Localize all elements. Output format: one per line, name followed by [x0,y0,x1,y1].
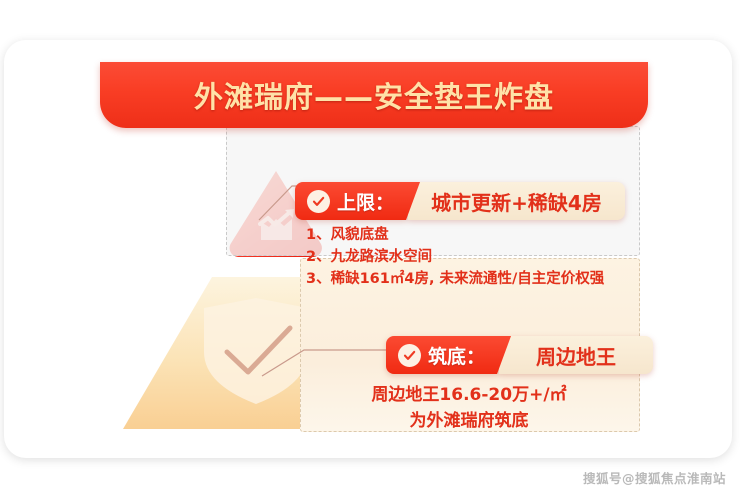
upper-badge-value: 城市更新+稀缺4房 [431,187,602,216]
info-card: 外滩瑞府——安全垫王炸盘 上限： 城市更新+稀缺4房 1、风貌底盘 2、九龙路滨… [4,40,732,458]
title-banner: 外滩瑞府——安全垫王炸盘 [100,62,648,128]
lower-badge-value: 周边地王 [536,341,616,370]
lower-badge[interactable]: 筑底： 周边地王 [386,336,653,374]
page-title: 外滩瑞府——安全垫王炸盘 [194,74,554,116]
upper-bullet-list: 1、风貌底盘 2、九龙路滨水空间 3、稀缺161㎡4房, 未来流通性/自主定价权… [306,224,636,290]
lower-text-line: 周边地王16.6-20万+/㎡ [304,382,634,408]
upper-badge-value-box: 城市更新+稀缺4房 [408,182,625,220]
check-circle-icon [398,344,421,367]
banner-body: 外滩瑞府——安全垫王炸盘 [100,62,648,128]
watermark: 搜狐号@搜狐焦点淮南站 [583,468,726,487]
connector-lower [262,350,396,376]
lower-badge-value-box: 周边地王 [499,336,653,374]
list-item: 1、风貌底盘 [306,224,636,246]
lower-badge-label: 筑底： [428,342,485,369]
lower-text-line: 为外滩瑞府筑底 [304,408,634,434]
check-circle-icon [307,190,330,213]
list-item: 3、稀缺161㎡4房, 未来流通性/自主定价权强 [306,268,636,290]
upper-badge-label: 上限： [337,188,394,215]
upper-badge-tag: 上限： [295,182,420,220]
lower-text-block: 周边地王16.6-20万+/㎡ 为外滩瑞府筑底 [304,382,634,434]
lower-badge-tag: 筑底： [386,336,511,374]
upper-badge[interactable]: 上限： 城市更新+稀缺4房 [295,182,625,220]
list-item: 2、九龙路滨水空间 [306,246,636,268]
